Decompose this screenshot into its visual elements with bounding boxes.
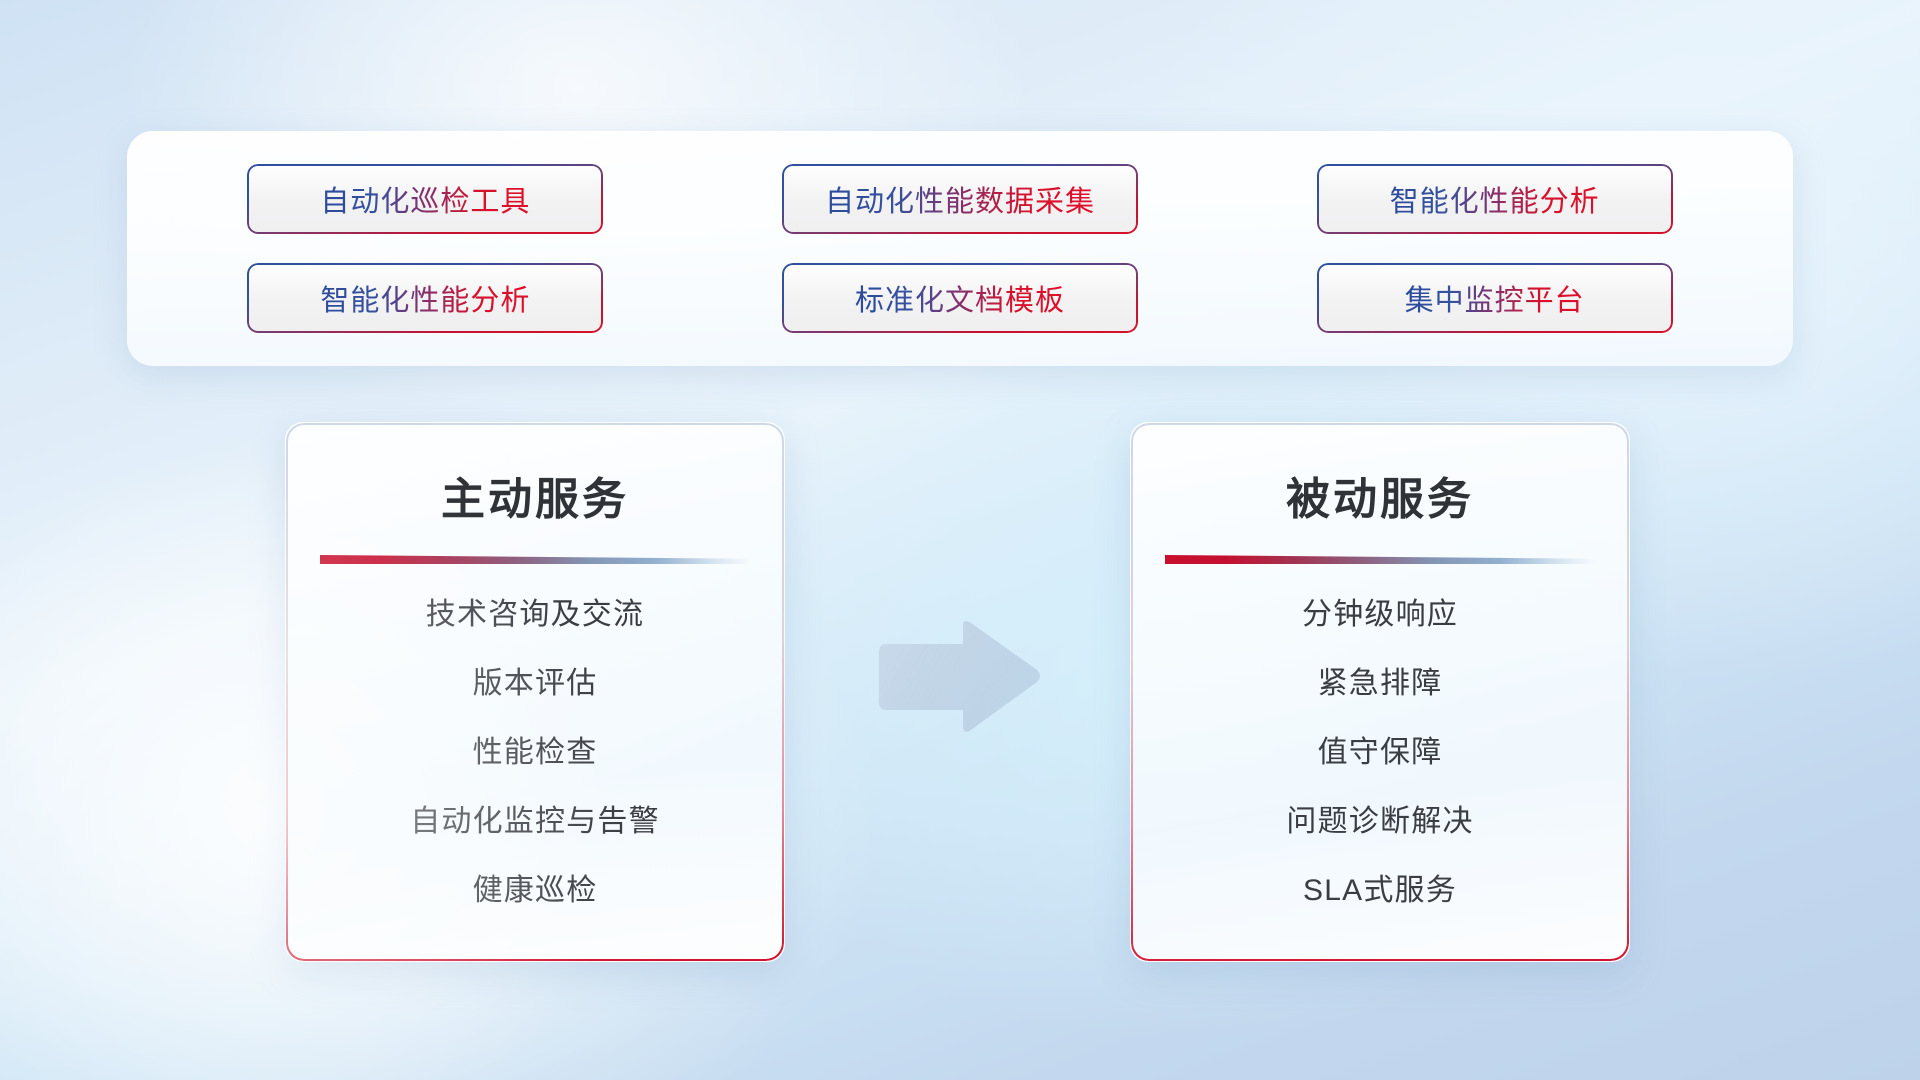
- capability-label: 智能化性能分析: [320, 277, 530, 319]
- capability-button-6[interactable]: 集中监控平台: [1317, 263, 1673, 333]
- card-divider: [1165, 555, 1595, 564]
- capability-button-5[interactable]: 标准化文档模板: [782, 263, 1138, 333]
- divider-gradient-bar: [1165, 555, 1595, 564]
- divider-gradient-bar: [320, 555, 750, 564]
- capability-panel: 自动化巡检工具 自动化性能数据采集 智能化性能分析 智能化性能分析 标准化文档模…: [127, 131, 1793, 366]
- service-item-list: 分钟级响应 紧急排障 值守保障 问题诊断解决 SLA式服务: [1131, 600, 1629, 906]
- list-item: 问题诊断解决: [1131, 807, 1629, 837]
- service-card-active: 主动服务 技术咨询及交流 版本评估 性能检查 自动化监控与告警 健康巡检: [285, 422, 785, 962]
- capability-label: 自动化性能数据采集: [825, 178, 1095, 220]
- infographic-stage: 自动化巡检工具 自动化性能数据采集 智能化性能分析 智能化性能分析 标准化文档模…: [0, 0, 1920, 1080]
- capability-label: 标准化文档模板: [855, 277, 1065, 319]
- list-item: 性能检查: [286, 738, 784, 768]
- arrow-right-icon: [875, 618, 1043, 736]
- capability-button-2[interactable]: 自动化性能数据采集: [782, 164, 1138, 234]
- capability-button-4[interactable]: 智能化性能分析: [247, 263, 603, 333]
- capability-button-1[interactable]: 自动化巡检工具: [247, 164, 603, 234]
- capability-label: 自动化巡检工具: [320, 178, 530, 220]
- list-item: 健康巡检: [286, 876, 784, 906]
- service-item-list: 技术咨询及交流 版本评估 性能检查 自动化监控与告警 健康巡检: [286, 600, 784, 906]
- list-item: 紧急排障: [1131, 669, 1629, 699]
- card-title: 被动服务: [1131, 463, 1629, 527]
- list-item: 技术咨询及交流: [286, 600, 784, 630]
- list-item: SLA式服务: [1131, 876, 1629, 906]
- list-item: 值守保障: [1131, 738, 1629, 768]
- service-card-passive: 被动服务 分钟级响应 紧急排障 值守保障 问题诊断解决 SLA式服务: [1130, 422, 1630, 962]
- capability-label: 集中监控平台: [1405, 277, 1585, 319]
- capability-button-3[interactable]: 智能化性能分析: [1317, 164, 1673, 234]
- list-item: 版本评估: [286, 669, 784, 699]
- capability-label: 智能化性能分析: [1390, 178, 1600, 220]
- card-title: 主动服务: [286, 463, 784, 527]
- card-divider: [320, 555, 750, 564]
- list-item: 自动化监控与告警: [286, 807, 784, 837]
- list-item: 分钟级响应: [1131, 600, 1629, 630]
